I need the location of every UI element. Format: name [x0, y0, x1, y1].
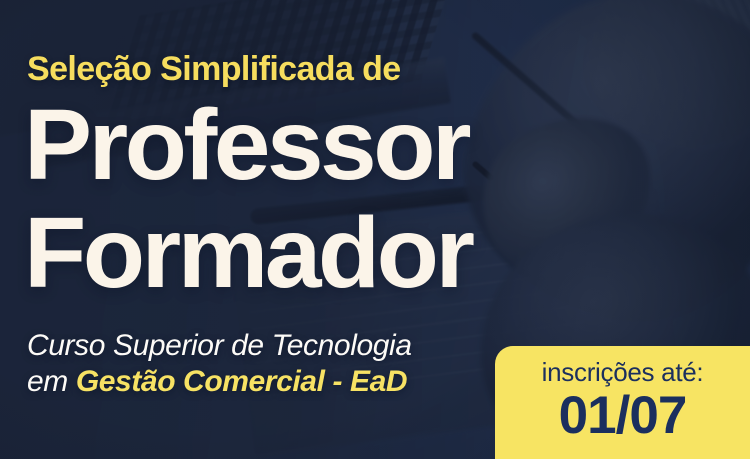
subtitle-line-2: em Gestão Comercial - EaD	[27, 364, 412, 400]
headline-line-1: Professor	[24, 101, 468, 189]
banner-content: Seleção Simplificada de Professor Formad…	[0, 0, 750, 459]
deadline-label: inscrições até:	[542, 359, 704, 385]
course-subtitle: Curso Superior de Tecnologia em Gestão C…	[27, 328, 412, 401]
subtitle-course-name: Gestão Comercial - EaD	[76, 365, 407, 398]
subtitle-line-1: Curso Superior de Tecnologia	[27, 328, 412, 364]
deadline-badge: inscrições até: 01/07	[495, 346, 750, 459]
deadline-date: 01/07	[559, 389, 687, 442]
subtitle-line-2-prefix: em	[27, 365, 76, 398]
promotional-banner: Seleção Simplificada de Professor Formad…	[0, 0, 750, 459]
headline-line-2: Formador	[24, 209, 471, 297]
kicker-text: Seleção Simplificada de	[27, 52, 401, 86]
